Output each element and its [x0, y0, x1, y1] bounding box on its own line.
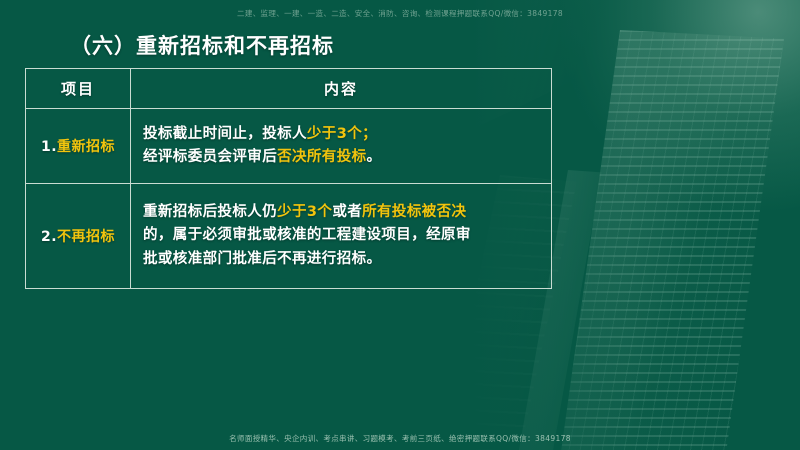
photo-tower-right: [560, 30, 784, 450]
content-segment-highlight: 少于3个；: [307, 126, 377, 142]
presentation-slide: 二建、监理、一建、一造、二造、安全、消防、咨询、检测课程押题联系QQ/微信：38…: [0, 0, 800, 450]
row-index-1: 1.: [41, 139, 57, 155]
top-watermark-banner: 二建、监理、一建、一造、二造、安全、消防、咨询、检测课程押题联系QQ/微信：38…: [0, 8, 800, 19]
content-segment: 批或核准部门批准后不再进行招标。: [143, 251, 381, 267]
row-item-label-1: 1.重新招标: [26, 109, 131, 184]
table-row: 2.不再招标 重新招标后投标人仍少于3个或者所有投标被否决 的，属于必须审批或核…: [26, 184, 552, 289]
row-index-2: 2.: [41, 229, 57, 245]
content-segment: 经评标委员会评审后: [143, 149, 277, 165]
content-segment: 或者: [332, 204, 362, 220]
content-segment: 重新招标后投标人仍: [143, 204, 277, 220]
content-line: 经评标委员会评审后否决所有投标。: [143, 146, 545, 169]
photo-sky-glow: [560, 0, 800, 210]
header-cell-item: 项目: [26, 69, 131, 109]
row-item-label-2: 2.不再招标: [26, 184, 131, 289]
header-cell-content: 内容: [131, 69, 552, 109]
row-item-name-1: 重新招标: [57, 139, 115, 155]
table-row: 1.重新招标 投标截止时间止，投标人少于3个； 经评标委员会评审后否决所有投标。: [26, 109, 552, 184]
row-item-name-2: 不再招标: [57, 229, 115, 245]
content-table: 项目 内容 1.重新招标 投标截止时间止，投标人少于3个； 经评标委员会评审后否…: [25, 68, 552, 289]
table-header-row: 项目 内容: [26, 69, 552, 109]
content-segment-highlight: 否决所有投标: [277, 149, 366, 165]
content-line: 批或核准部门批准后不再进行招标。: [143, 248, 545, 271]
slide-title: （六）重新招标和不再招标: [70, 30, 334, 60]
content-segment-highlight: 少于3个: [277, 204, 332, 220]
bottom-watermark-banner: 名师面授精华、央企内训、考点串讲、习题模考、考前三页纸、绝密押题联系QQ/微信：…: [0, 433, 800, 444]
content-line: 投标截止时间止，投标人少于3个；: [143, 123, 545, 146]
row-content-2: 重新招标后投标人仍少于3个或者所有投标被否决 的，属于必须审批或核准的工程建设项…: [131, 184, 552, 289]
photo-tower-right-mullions: [560, 30, 784, 450]
content-line: 的，属于必须审批或核准的工程建设项目，经原审: [143, 224, 545, 247]
content-segment: 投标截止时间止，投标人: [143, 126, 307, 142]
row-content-1: 投标截止时间止，投标人少于3个； 经评标委员会评审后否决所有投标。: [131, 109, 552, 184]
content-segment: 。: [367, 149, 382, 165]
content-line: 重新招标后投标人仍少于3个或者所有投标被否决: [143, 201, 545, 224]
content-segment: 的，属于必须审批或核准的工程建设项目，经原审: [143, 227, 471, 243]
content-segment-highlight: 所有投标被否决: [362, 204, 466, 220]
photo-tower-right-floors: [560, 30, 784, 450]
